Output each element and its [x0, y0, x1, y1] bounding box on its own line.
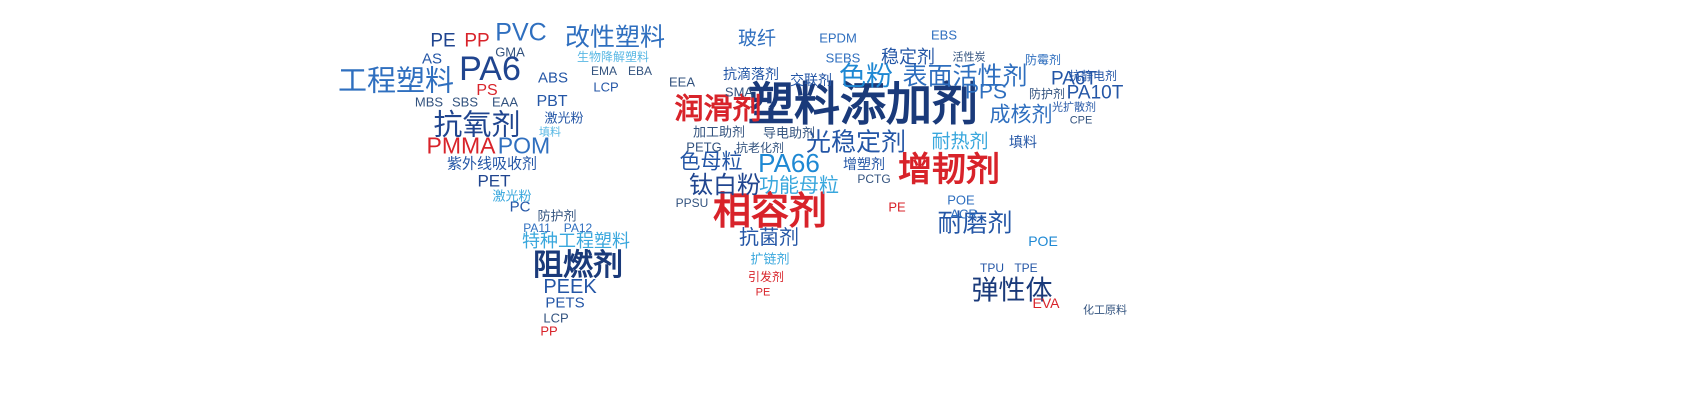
word-cloud-term[interactable]: EPDM	[819, 32, 857, 45]
word-cloud-term[interactable]: 防护剂	[1029, 88, 1065, 100]
word-cloud-term[interactable]: CPE	[1070, 116, 1093, 127]
word-cloud-term[interactable]: PE	[430, 32, 455, 51]
word-cloud-term[interactable]: 稳定剂	[881, 48, 935, 66]
word-cloud-term[interactable]: SEBS	[826, 52, 861, 65]
word-cloud-term[interactable]: PA12	[564, 222, 592, 234]
word-cloud-term[interactable]: PPS	[965, 82, 1007, 103]
word-cloud-term[interactable]: POE	[1028, 234, 1058, 248]
word-cloud-term[interactable]: TPU	[980, 262, 1004, 274]
word-cloud-term[interactable]: EEA	[669, 76, 695, 89]
word-cloud-term[interactable]: AS	[422, 52, 442, 67]
word-cloud-term[interactable]: PC	[510, 200, 531, 215]
word-cloud-term[interactable]: 激光粉	[544, 112, 583, 125]
word-cloud-term[interactable]: PVC	[495, 21, 546, 46]
word-cloud-term[interactable]: SBS	[452, 96, 478, 109]
word-cloud-term[interactable]: 导电助剂	[763, 127, 815, 140]
word-cloud-term[interactable]: SMA	[725, 86, 753, 99]
word-cloud-term[interactable]: 填料	[539, 128, 561, 139]
word-cloud-term[interactable]: 紫外线吸收剂	[447, 157, 537, 172]
word-cloud-term[interactable]: PP	[540, 325, 557, 338]
word-cloud-term[interactable]: 工程塑料	[338, 68, 454, 97]
word-cloud-term[interactable]: 增塑剂	[843, 157, 885, 171]
word-cloud-term[interactable]: PE	[756, 288, 771, 299]
word-cloud-term[interactable]: 填料	[1009, 135, 1037, 149]
word-cloud-term[interactable]: 抗菌剂	[739, 228, 799, 248]
word-cloud-term[interactable]: 改性塑料	[565, 26, 665, 51]
word-cloud-term[interactable]: 扩链剂	[750, 253, 789, 266]
word-cloud-term[interactable]: MBS	[415, 96, 443, 109]
word-cloud-term[interactable]: EBS	[931, 29, 957, 42]
word-cloud-term[interactable]: 润滑剂	[674, 96, 761, 125]
word-cloud-term[interactable]: 成核剂	[990, 105, 1053, 126]
word-cloud-term[interactable]: 玻纤	[738, 30, 776, 49]
word-cloud-term[interactable]: ACR	[950, 208, 977, 221]
word-cloud-term[interactable]: 防霉剂	[1025, 54, 1061, 66]
word-cloud-canvas: 塑料添加剂相容剂增韧剂阻燃剂润滑剂工程塑料抗氧剂PA6改性塑料表面活性剂色粉光稳…	[0, 0, 1707, 400]
word-cloud-term[interactable]: 色粉	[839, 64, 893, 91]
word-cloud-term[interactable]: PP	[464, 32, 489, 51]
word-cloud-term[interactable]: PETG	[686, 141, 721, 154]
word-cloud-term[interactable]: TPE	[1014, 262, 1037, 274]
word-cloud-term[interactable]: 交联剂	[790, 73, 832, 87]
word-cloud-term[interactable]: 活性炭	[953, 53, 986, 64]
word-cloud-term[interactable]: LCP	[593, 81, 618, 94]
word-cloud-term[interactable]: PETS	[545, 296, 584, 311]
word-cloud-term[interactable]: EBA	[628, 65, 652, 77]
word-cloud-term[interactable]: EMA	[591, 65, 617, 77]
word-cloud-term[interactable]: POE	[947, 194, 974, 207]
word-cloud-term[interactable]: PPSU	[676, 197, 709, 209]
word-cloud-term[interactable]: 抗滴落剂	[723, 67, 779, 81]
word-cloud-term[interactable]: 耐热剂	[931, 133, 988, 152]
word-cloud-term[interactable]: 抗静电剂	[1069, 70, 1117, 82]
word-cloud-term[interactable]: EVA	[1033, 296, 1060, 310]
word-cloud-term[interactable]: 加工助剂	[693, 126, 745, 139]
word-cloud-term[interactable]: 增韧剂	[898, 153, 1000, 187]
word-cloud-term[interactable]: PA10T	[1067, 84, 1124, 103]
word-cloud-term[interactable]: PBT	[536, 94, 567, 110]
word-cloud-term[interactable]: 钛白粉	[689, 174, 761, 198]
word-cloud-term[interactable]: 光扩散剂	[1052, 103, 1096, 114]
word-cloud-term[interactable]: 引发剂	[748, 271, 784, 283]
word-cloud-term[interactable]: GMA	[495, 46, 525, 59]
word-cloud-term[interactable]: PE	[888, 201, 905, 214]
word-cloud-term[interactable]: PCTG	[857, 173, 890, 185]
word-cloud-term[interactable]: 光稳定剂	[806, 131, 906, 156]
word-cloud-term[interactable]: 功能母粒	[759, 176, 839, 196]
word-cloud-term[interactable]: 色母粒	[680, 152, 743, 173]
word-cloud-term[interactable]: 抗老化剂	[736, 142, 784, 154]
word-cloud-term[interactable]: PMMA	[427, 135, 496, 158]
word-cloud-term[interactable]: PA11	[523, 222, 551, 234]
word-cloud-term[interactable]: EAA	[492, 96, 518, 109]
word-cloud-term[interactable]: PET	[477, 173, 510, 190]
word-cloud-term[interactable]: ABS	[538, 71, 568, 86]
word-cloud-term[interactable]: 生物降解塑料	[577, 51, 649, 63]
word-cloud-term[interactable]: 化工原料	[1083, 306, 1127, 317]
